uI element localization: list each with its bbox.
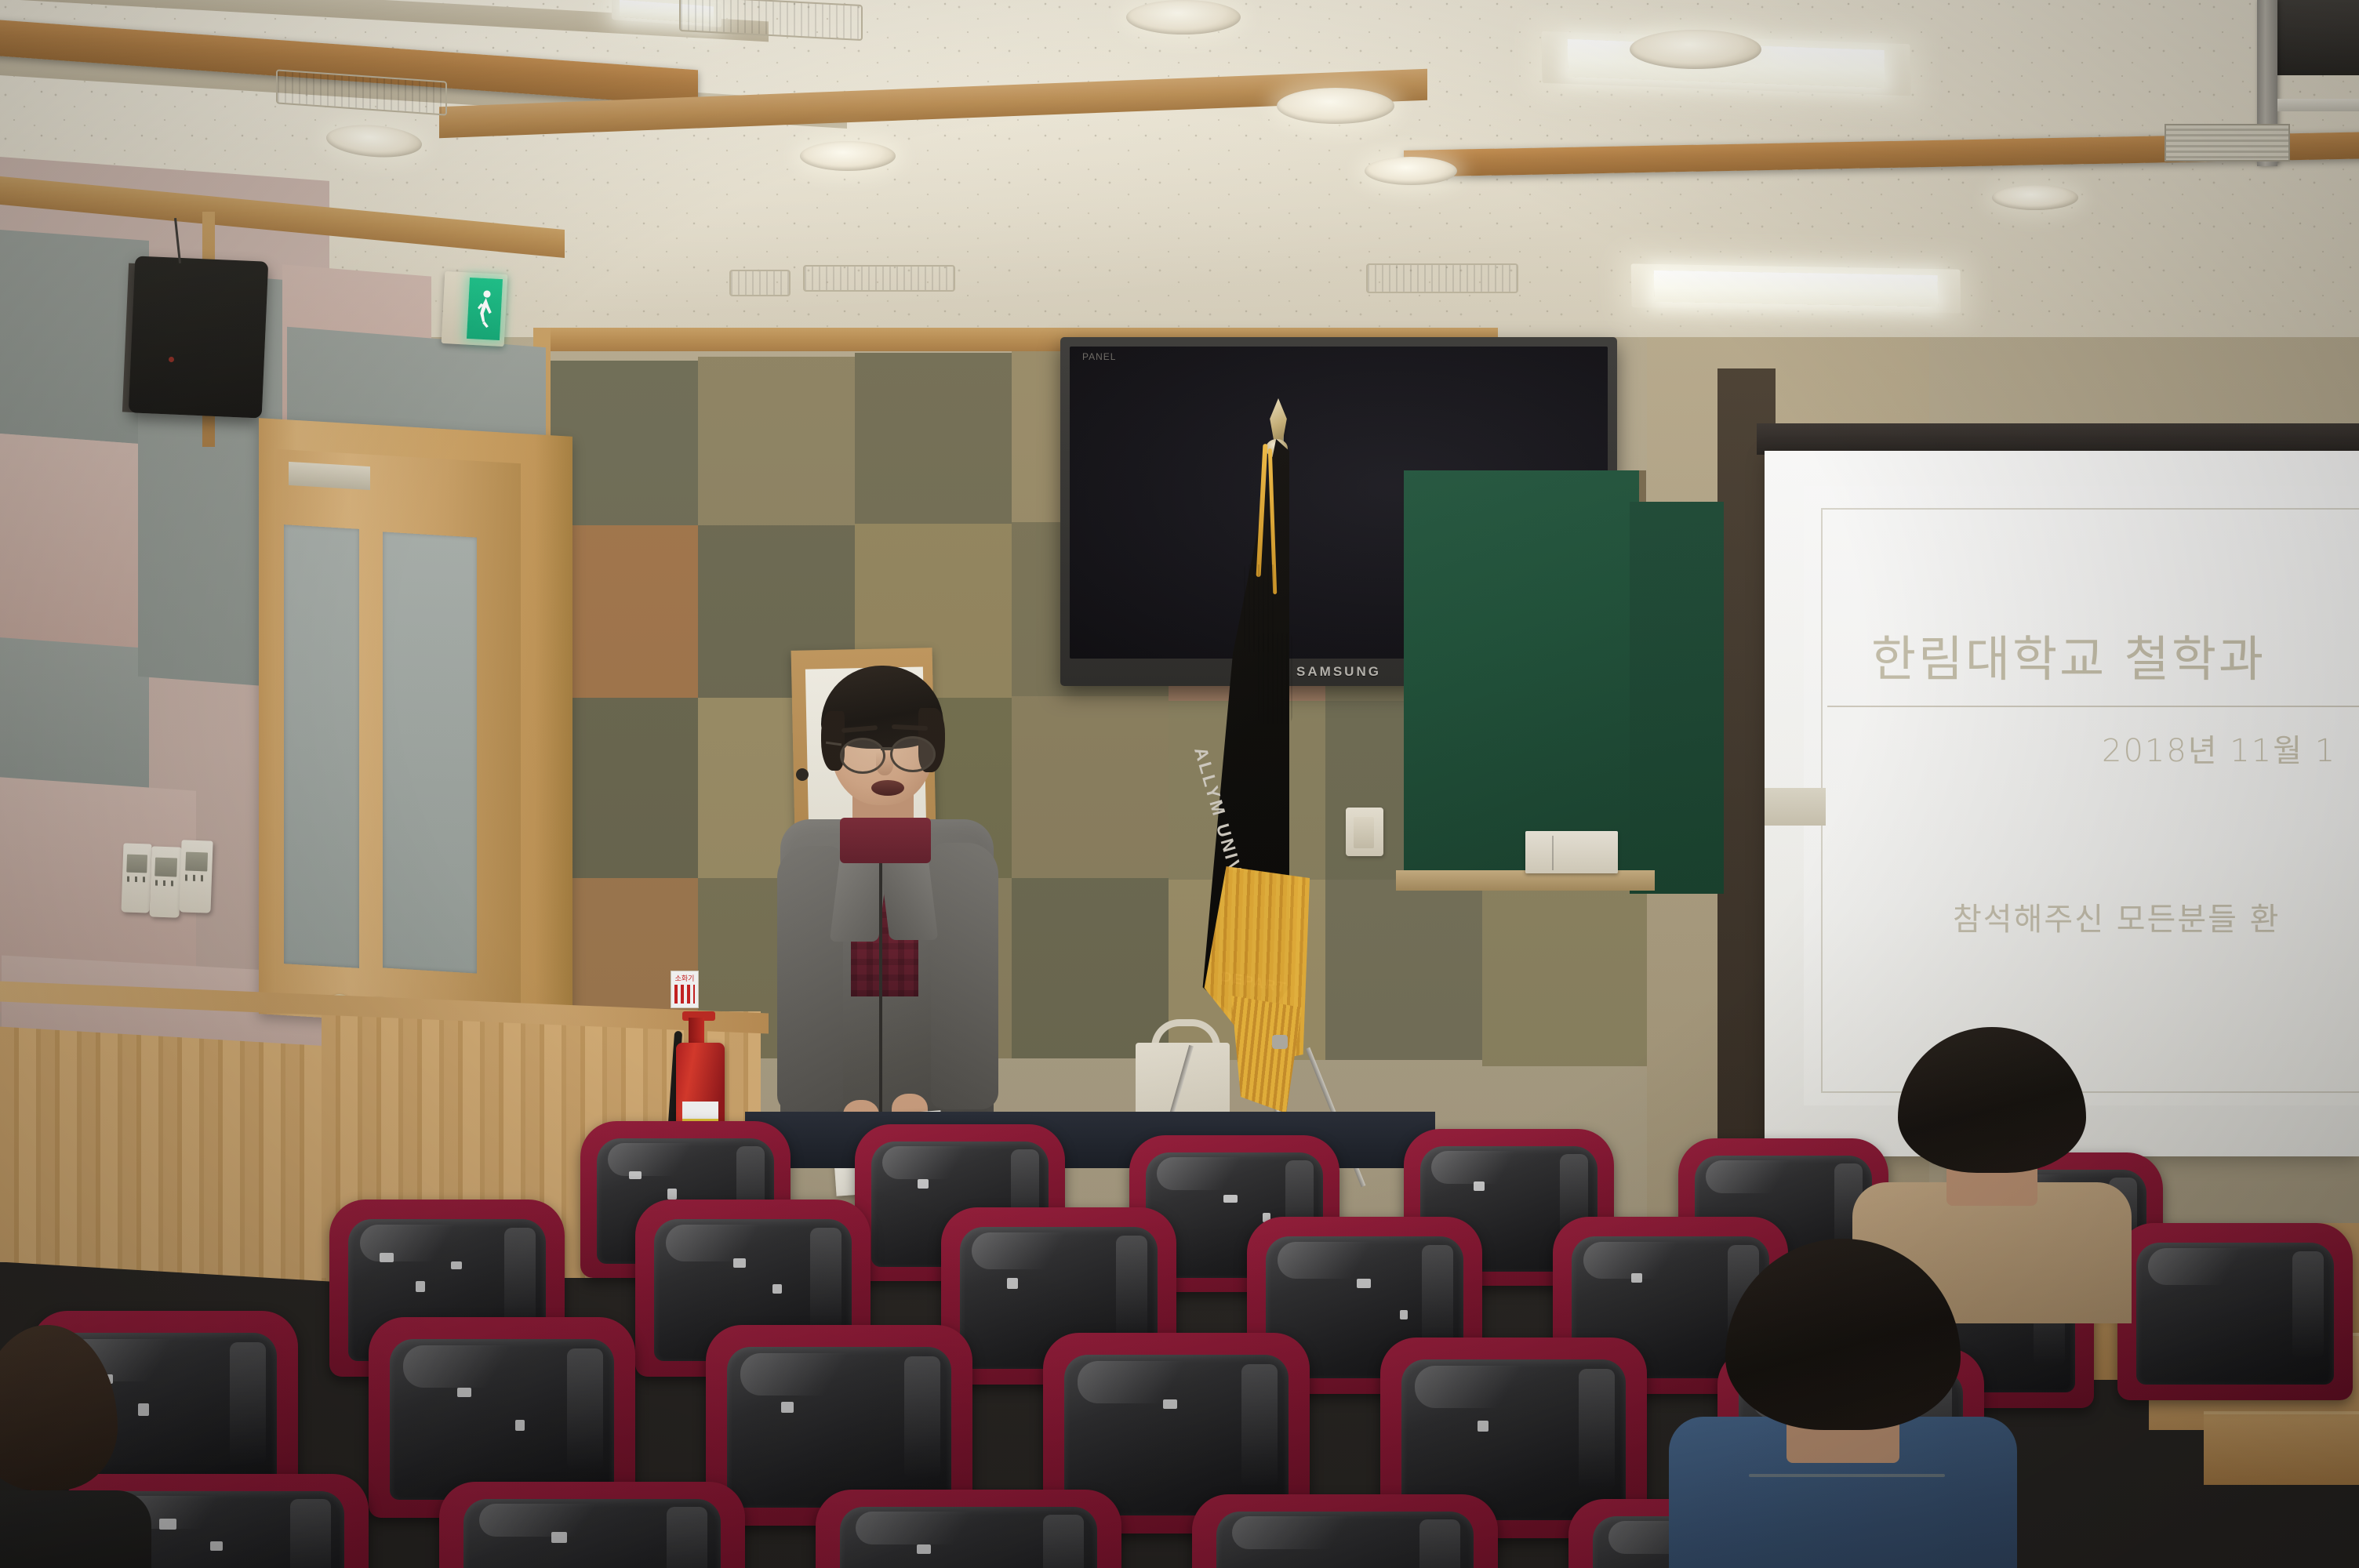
wall-panel: [1012, 696, 1169, 878]
recessed-downlight-2: [1630, 30, 1761, 69]
flag-tassel-2: [1258, 633, 1292, 724]
audience-hair: [1898, 1027, 2086, 1173]
ceiling-air-diffuser-5: [729, 270, 791, 296]
light-switch-rocker[interactable]: [1354, 817, 1374, 848]
audience-hair: [0, 1325, 118, 1490]
door-glass-panel-right: [383, 532, 477, 973]
slide-inner-border: [1821, 508, 2359, 1093]
presenter-zipper: [879, 827, 882, 1141]
wall-panel: [1012, 878, 1169, 1058]
slide-divider-rule: [1827, 706, 2359, 707]
presenter-mouth: [871, 780, 904, 796]
audience-body: [0, 1490, 151, 1568]
recessed-downlight-5: [1992, 185, 2078, 210]
presenter-collar: [840, 818, 931, 863]
slide-title: 한림대학교 철학과: [1871, 619, 2359, 690]
fire-extinguisher-sign-label: 소화기: [671, 973, 698, 983]
wall-panel: [1325, 880, 1482, 1060]
lecture-hall-photo: PANEL SAMSUNG 한림대학교 철학과 2018년 11월 1 참석해주…: [0, 0, 2359, 1568]
glasses-lens-right: [890, 736, 936, 772]
wall-control-panel-1[interactable]: [121, 843, 151, 913]
audience-member-tan-jacket: [1898, 1027, 2086, 1262]
recessed-downlight-7: [800, 141, 896, 171]
presenter-nose: [876, 752, 893, 775]
wall-panel: [698, 357, 855, 525]
glasses-bridge: [881, 747, 892, 750]
wall-panel: [1482, 886, 1647, 1066]
presenter: [765, 670, 1008, 1172]
ceiling-vent-grille: [2165, 124, 2290, 162]
seat[interactable]: [1192, 1494, 1498, 1568]
audience-member-denim-jacket: [1725, 1239, 1961, 1568]
projection-screen-case: [1757, 423, 2359, 455]
door-glass-panel-left: [284, 524, 359, 968]
projector-arm: [2277, 99, 2359, 111]
door-closer: [289, 462, 370, 490]
audience-member-dark-top: [0, 1325, 118, 1568]
seat[interactable]: [816, 1490, 1121, 1568]
ceiling-projector-icon: [2277, 0, 2359, 75]
extinguisher-neck: [689, 1018, 704, 1046]
eraser-box: [1525, 831, 1618, 873]
speaker-led-indicator: [169, 357, 174, 362]
presenter-arm-left: [777, 846, 843, 1112]
seat[interactable]: [439, 1482, 745, 1568]
flag-tripod-hub: [1272, 1035, 1288, 1049]
denim-jacket-seam: [1749, 1474, 1945, 1477]
chalkboard-side-panel: [1630, 502, 1724, 894]
stage-step-2: [2204, 1411, 2359, 1485]
wall-control-panel-2[interactable]: [149, 846, 181, 917]
fire-extinguisher-pictogram: [674, 985, 695, 1004]
seat[interactable]: [2117, 1223, 2353, 1400]
wainscot-left: [0, 1027, 329, 1282]
fire-extinguisher-sign: 소화기: [671, 971, 699, 1008]
recessed-downlight-4: [1365, 157, 1457, 185]
wall-panel: [855, 353, 1012, 524]
slide-date: 2018년 11월 1: [2102, 725, 2359, 771]
audience-hair: [1725, 1239, 1961, 1430]
fluorescent-troffer-2: [1631, 263, 1961, 313]
wall-control-panel-3[interactable]: [179, 840, 213, 913]
left-wall-pink-panel-1: [0, 434, 149, 648]
screen-side-tab: [1765, 788, 1826, 826]
presenter-arm-right: [931, 843, 998, 1109]
recessed-downlight-3: [1277, 88, 1394, 124]
tv-sub-brand-label: PANEL: [1082, 351, 1116, 362]
exit-running-man-icon: [476, 288, 496, 329]
ceiling-air-diffuser-2: [1366, 263, 1518, 293]
ceiling-air-diffuser-4: [803, 265, 955, 292]
chalkboard: [1404, 470, 1646, 884]
wall-speaker-icon: [129, 256, 269, 418]
slide-subtitle: 참석해주신 모든분들 환: [1953, 894, 2359, 939]
recessed-downlight-1: [1126, 0, 1241, 34]
